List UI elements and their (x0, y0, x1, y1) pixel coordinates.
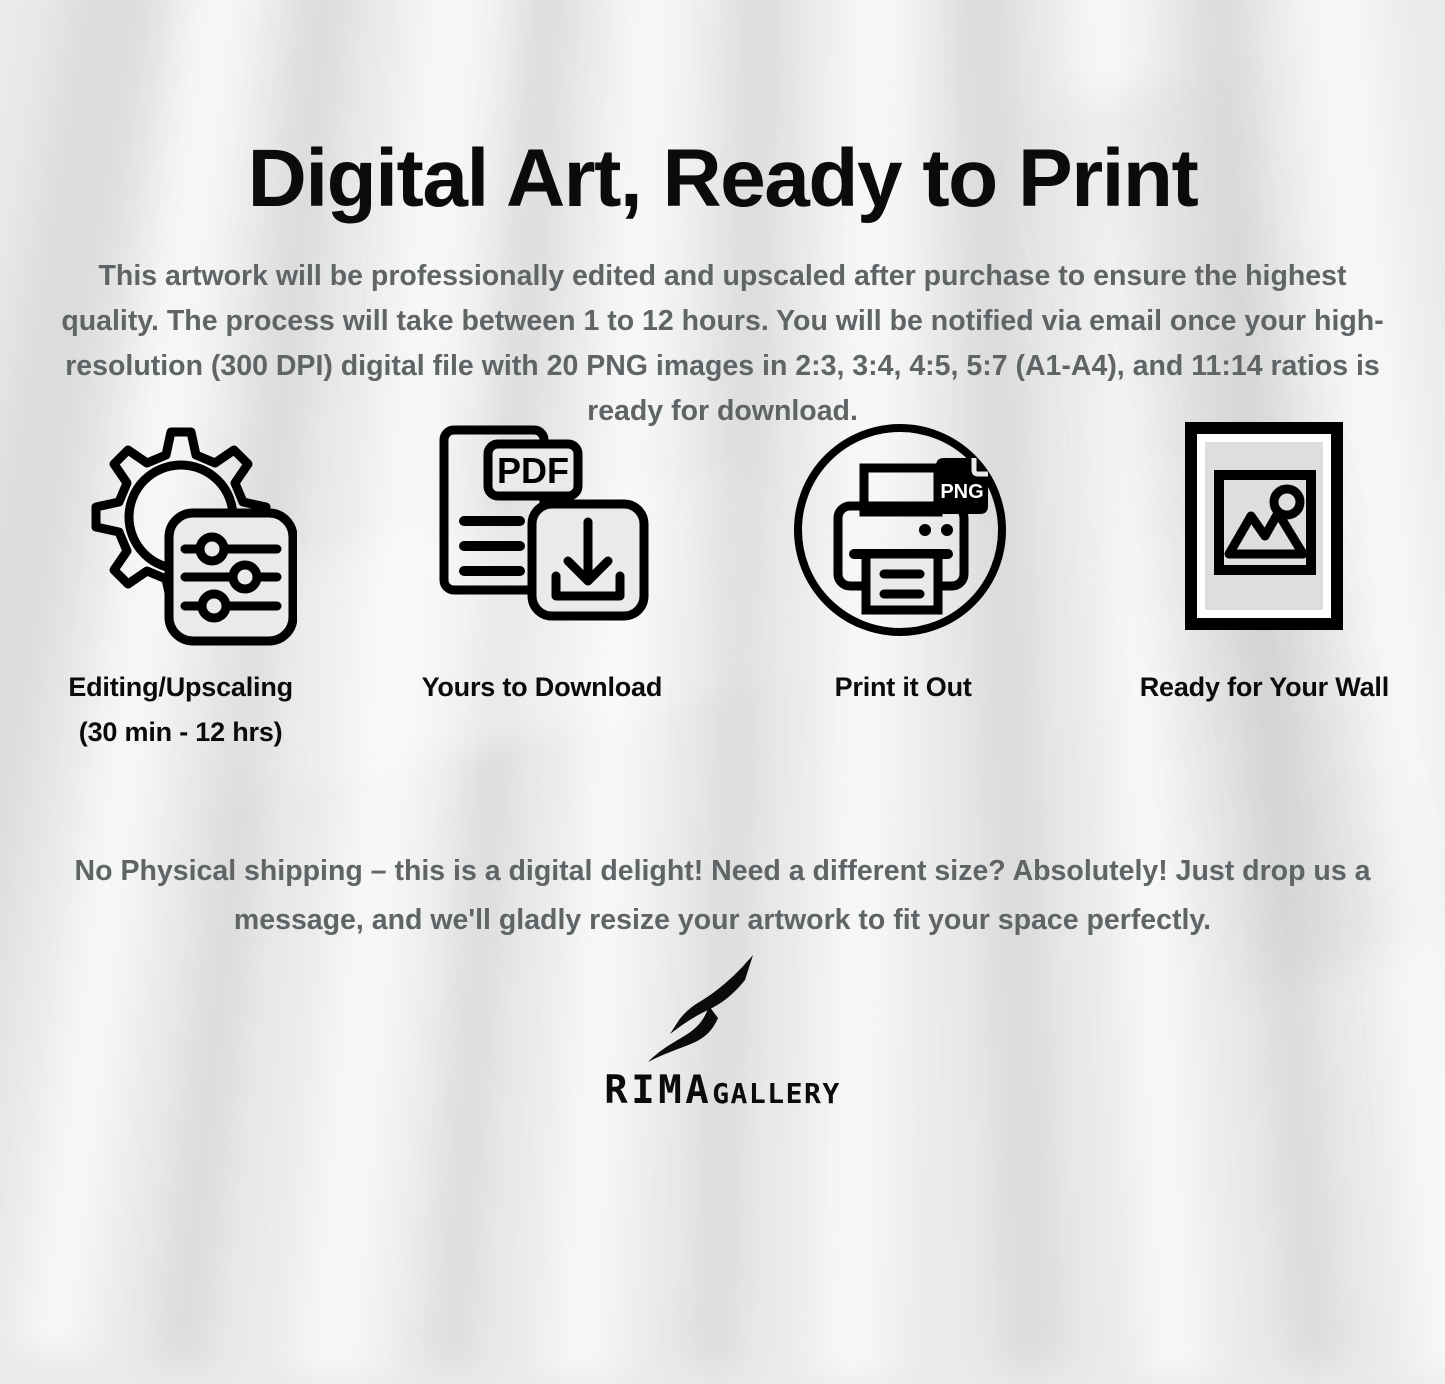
feature-label: Print it Out (835, 665, 972, 710)
feature-item-wall: Ready for Your Wall (1084, 418, 1445, 758)
logo-secondary-text: GALLERY (712, 1077, 841, 1110)
feature-label: Ready for Your Wall (1140, 665, 1389, 710)
feature-item-editing-upscaling: Editing/Upscaling (30 min - 12 hrs) (0, 418, 361, 758)
feature-item-download: PDF Yours to Download (361, 418, 722, 758)
feature-label: Editing/Upscaling (30 min - 12 hrs) (68, 665, 293, 755)
gear-sliders-icon (65, 418, 297, 663)
feature-item-print: PNG Print it Out (723, 418, 1084, 758)
page-title: Digital Art, Ready to Print (0, 131, 1445, 227)
png-badge-text: PNG (940, 481, 983, 503)
promo-card: Digital Art, Ready to Print This artwork… (0, 0, 1445, 1156)
outro-paragraph: No Physical shipping – this is a digital… (45, 847, 1400, 945)
logo-primary-text: RIMA (604, 1068, 712, 1113)
intro-paragraph: This artwork will be professionally edit… (50, 254, 1395, 434)
brand-logo: RIMA GALLERY (0, 950, 1445, 1113)
feature-row: Editing/Upscaling (30 min - 12 hrs) PDF (0, 418, 1445, 758)
pdf-badge-text: PDF (497, 450, 569, 491)
feature-label: Yours to Download (422, 665, 663, 710)
framed-picture-icon (1181, 418, 1347, 663)
printer-circle-icon: PNG (792, 418, 1014, 663)
pdf-download-icon: PDF (432, 418, 652, 663)
rima-swoosh-mark (623, 950, 823, 1070)
